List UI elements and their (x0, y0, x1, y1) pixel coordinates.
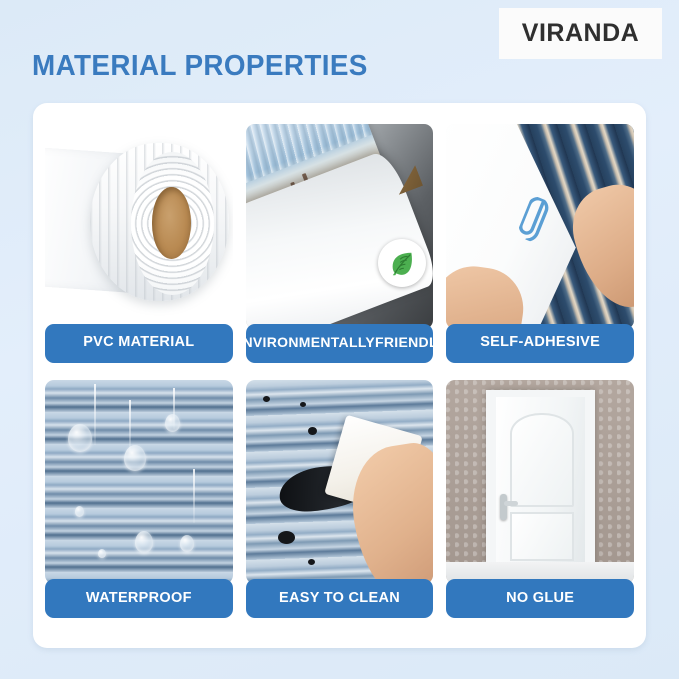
ink-dot (308, 427, 317, 435)
label-line-2: FRIENDLY (375, 335, 433, 350)
no-glue-illustration (446, 380, 634, 585)
white-door-image (446, 380, 634, 585)
feature-label-easy-to-clean: EASY TO CLEAN (246, 579, 434, 618)
door-frame (486, 390, 595, 574)
eco-leaf-badge (378, 239, 426, 287)
feature-card-environmentally-friendly: ENVIRONMENTALLY FRIENDLY (246, 118, 434, 363)
hands-peeling-backing-image (446, 124, 634, 329)
water-droplet (68, 424, 92, 452)
door-handle (500, 494, 507, 520)
brand-logo-box: VIRANDA (499, 8, 662, 59)
water-streak (193, 469, 195, 522)
feature-label-environmentally-friendly: ENVIRONMENTALLY FRIENDLY (246, 324, 434, 363)
water-droplet (165, 414, 180, 432)
label-line-1: ENVIRONMENTALLY (246, 335, 375, 350)
feature-label-waterproof: WATERPROOF (45, 579, 233, 618)
easy-to-clean-illustration (246, 380, 434, 585)
door-panel-top (510, 413, 575, 507)
water-droplet (98, 549, 106, 558)
ink-dot (263, 396, 270, 402)
feature-label-self-adhesive: SELF-ADHESIVE (446, 324, 634, 363)
roll-cardboard-core (152, 187, 191, 259)
feature-grid: PVC MATERIAL (45, 118, 634, 618)
water-droplets-image (45, 380, 233, 585)
self-adhesive-illustration (446, 124, 634, 329)
feature-card-easy-to-clean: EASY TO CLEAN (246, 374, 434, 619)
leaf-icon (387, 248, 417, 278)
sponge-wiping-ink-image (246, 380, 434, 585)
brand-name: VIRANDA (522, 19, 639, 48)
pvc-roll-illustration (45, 118, 233, 329)
page-title: MATERIAL PROPERTIES (32, 50, 368, 83)
water-droplet (124, 445, 146, 471)
ink-dot (308, 559, 315, 565)
water-droplet (180, 535, 194, 552)
door-leaf (496, 397, 585, 570)
ink-dot (300, 402, 306, 407)
water-droplet (75, 506, 84, 517)
feature-card-waterproof: WATERPROOF (45, 374, 233, 619)
feature-card-self-adhesive: SELF-ADHESIVE (446, 118, 634, 363)
water-droplet (135, 531, 153, 553)
infographic-page: VIRANDA MATERIAL PROPERTIES PVC MATERIAL (0, 0, 679, 679)
peeling-wallpaper-image (246, 124, 434, 329)
door-panel-bottom (510, 512, 575, 561)
feature-label-pvc-material: PVC MATERIAL (45, 324, 233, 363)
waterproof-illustration (45, 380, 233, 585)
feature-card-pvc-material: PVC MATERIAL (45, 118, 233, 363)
feature-card-no-glue: NO GLUE (446, 374, 634, 619)
water-streak (94, 384, 96, 445)
feature-label-no-glue: NO GLUE (446, 579, 634, 618)
ink-dot (278, 531, 295, 544)
eco-illustration (246, 124, 434, 329)
pvc-roll-image (45, 118, 233, 329)
